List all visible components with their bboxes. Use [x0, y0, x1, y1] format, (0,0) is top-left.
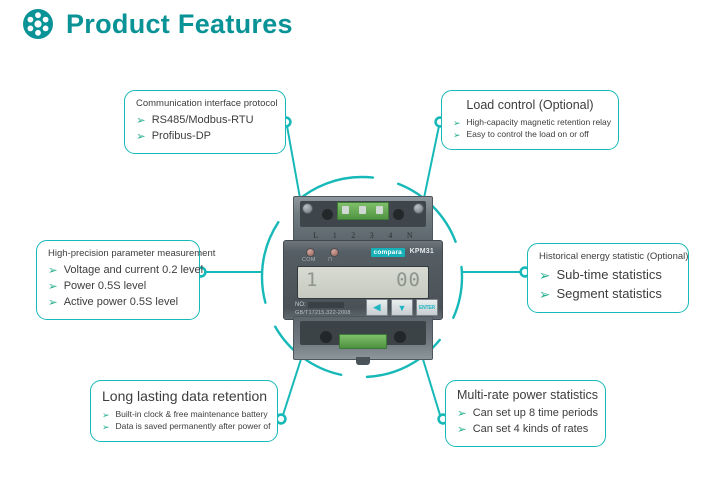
- callout-title: Communication interface protocol: [136, 98, 274, 109]
- list-item-label: Segment statistics: [556, 285, 662, 304]
- led-label-pulse: ⊓: [328, 257, 333, 263]
- led-label-com: COM: [302, 257, 316, 263]
- list-item-label: Voltage and current 0.2 level: [64, 263, 203, 279]
- model-label: KPM31: [410, 248, 434, 255]
- list-item: ➢ Can set up 8 time periods: [457, 406, 594, 422]
- callout-high-precision-parameter-measurement[interactable]: High-precision parameter measurement ➢ V…: [36, 240, 200, 320]
- list-item: ➢ High-capacity magnetic retention relay: [453, 116, 607, 128]
- callout-communication-interface-protocol[interactable]: Communication interface protocol ➢ RS485…: [124, 90, 286, 154]
- lcd-value-left: 1: [306, 271, 317, 290]
- device-front-panel: COM ⊓ compara KPM31 1 00 NO: GB/T17215.3…: [283, 240, 443, 320]
- connector-pin: [376, 206, 383, 214]
- arrow-bullet-icon: ➢: [48, 282, 58, 294]
- connector-pin: [342, 206, 349, 214]
- serial-number-row: NO:: [295, 302, 344, 308]
- callout-item-list: ➢ Can set up 8 time periods ➢ Can set 4 …: [457, 406, 594, 438]
- connector-comm: [287, 126, 300, 198]
- list-item: ➢ Segment statistics: [539, 285, 677, 304]
- energy-meter-device: L 1 2 3 4 N COM ⊓ compara KPM31 1 00 NO:…: [283, 196, 441, 358]
- callout-item-list: ➢ Sub-time statistics ➢ Segment statisti…: [539, 266, 677, 304]
- led-indicator-com: [306, 248, 315, 257]
- list-item-label: Can set 4 kinds of rates: [473, 422, 589, 438]
- list-item-label: Active power 0.5S level: [64, 295, 178, 311]
- list-item: ➢ Power 0.5S level: [48, 279, 188, 295]
- connector-pin: [359, 206, 366, 214]
- list-item-label: RS485/Modbus-RTU: [152, 113, 254, 129]
- arrow-bullet-icon: ➢: [539, 288, 550, 302]
- list-item-label: Power 0.5S level: [64, 279, 147, 295]
- terminal-hole: [320, 331, 332, 343]
- terminal-label: N: [407, 231, 413, 240]
- arrow-bullet-icon: ➢: [102, 411, 109, 420]
- list-item-label: Data is saved permanently after power of: [115, 420, 270, 432]
- list-item: ➢ Active power 0.5S level: [48, 295, 188, 311]
- list-item: ➢ Sub-time statistics: [539, 266, 677, 285]
- list-item-label: High-capacity magnetic retention relay: [466, 116, 611, 128]
- list-item-label: Easy to control the load on or off: [466, 128, 588, 140]
- arrow-bullet-icon: ➢: [102, 423, 109, 432]
- lcd-display: 1 00: [297, 266, 429, 299]
- screw-icon: [302, 203, 313, 214]
- terminal-label: 4: [388, 231, 392, 240]
- terminal-label: 2: [351, 231, 355, 240]
- serial-number-value: [308, 302, 344, 308]
- list-item: ➢ Built-in clock & free maintenance batt…: [102, 408, 266, 420]
- green-connector: [337, 202, 389, 220]
- terminal-label: L: [313, 231, 318, 240]
- list-item: ➢ Voltage and current 0.2 level: [48, 263, 188, 279]
- callout-title: Long lasting data retention: [102, 388, 266, 404]
- led-indicator-pulse: [330, 248, 339, 257]
- arrow-bullet-icon: ➢: [48, 298, 58, 310]
- callout-load-control[interactable]: Load control (Optional) ➢ High-capacity …: [441, 90, 619, 150]
- arrow-bullet-icon: ➢: [453, 119, 460, 128]
- terminal-hole: [393, 209, 404, 220]
- callout-title: High-precision parameter measurement: [48, 248, 188, 259]
- arrow-bullet-icon: ➢: [457, 425, 467, 437]
- callout-item-list: ➢ Built-in clock & free maintenance batt…: [102, 408, 266, 433]
- callout-long-lasting-data-retention[interactable]: Long lasting data retention ➢ Built-in c…: [90, 380, 278, 442]
- lcd-value-right: 00: [396, 271, 421, 290]
- connector-multirate: [422, 356, 440, 415]
- callout-multi-rate-power-statistics[interactable]: Multi-rate power statistics ➢ Can set up…: [445, 380, 606, 447]
- connector-load: [424, 126, 439, 198]
- list-item-label: Can set up 8 time periods: [473, 406, 598, 422]
- callout-title: Historical energy statistic (Optional): [539, 251, 677, 262]
- terminal-hole: [322, 209, 333, 220]
- device-top-terminal-block: L 1 2 3 4 N: [293, 196, 433, 244]
- device-bottom-terminal-block: [293, 316, 433, 360]
- list-item-label: Sub-time statistics: [556, 266, 661, 285]
- list-item: ➢ Profibus-DP: [136, 129, 274, 145]
- terminal-label-row: L 1 2 3 4 N: [294, 231, 432, 240]
- arrow-bullet-icon: ➢: [136, 116, 146, 128]
- brand-logo: compara: [371, 248, 406, 257]
- din-rail-clip: [356, 357, 370, 365]
- arrow-bullet-icon: ➢: [48, 266, 58, 278]
- callout-title: Load control (Optional): [453, 98, 607, 112]
- terminal-label: 3: [370, 231, 374, 240]
- button-left-arrow[interactable]: ◀: [366, 299, 388, 316]
- list-item-label: Profibus-DP: [152, 129, 211, 145]
- arrow-bullet-icon: ➢: [539, 269, 550, 283]
- green-connector: [339, 334, 387, 349]
- callout-historical-energy-statistic[interactable]: Historical energy statistic (Optional) ➢…: [527, 243, 689, 313]
- callout-item-list: ➢ RS485/Modbus-RTU ➢ Profibus-DP: [136, 113, 274, 145]
- arrow-bullet-icon: ➢: [136, 132, 146, 144]
- list-item-label: Built-in clock & free maintenance batter…: [115, 408, 267, 420]
- terminal-hole: [394, 331, 406, 343]
- arrow-bullet-icon: ➢: [453, 131, 460, 140]
- arrow-bullet-icon: ➢: [457, 409, 467, 421]
- terminal-label: 1: [333, 231, 337, 240]
- list-item: ➢ RS485/Modbus-RTU: [136, 113, 274, 129]
- callout-title: Multi-rate power statistics: [457, 388, 594, 402]
- list-item: ➢ Data is saved permanently after power …: [102, 420, 266, 432]
- callout-item-list: ➢ Voltage and current 0.2 level ➢ Power …: [48, 263, 188, 311]
- button-down-arrow[interactable]: ▼: [391, 299, 413, 316]
- list-item: ➢ Can set 4 kinds of rates: [457, 422, 594, 438]
- button-enter[interactable]: ENTER: [416, 299, 438, 316]
- list-item: ➢ Easy to control the load on or off: [453, 128, 607, 140]
- callout-item-list: ➢ High-capacity magnetic retention relay…: [453, 116, 607, 141]
- connector-retention: [283, 356, 302, 415]
- serial-number-label: NO:: [295, 302, 306, 308]
- screw-icon: [413, 203, 424, 214]
